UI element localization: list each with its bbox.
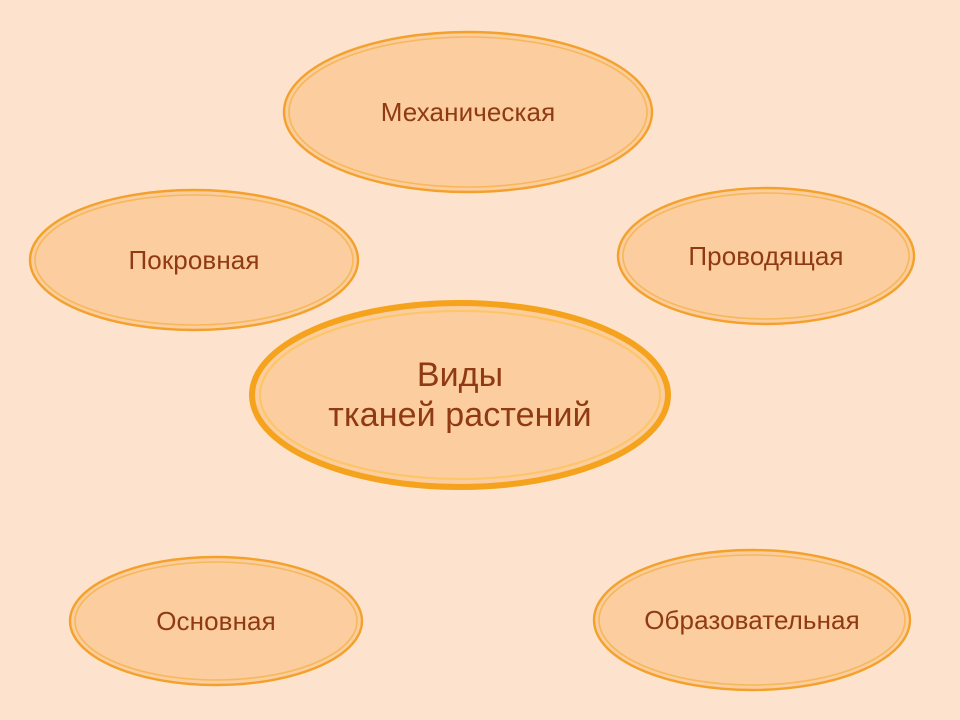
node-obrazovatelnaya[interactable] (594, 550, 910, 690)
node-provodyashchaya[interactable] (618, 188, 914, 324)
node-mehanicheskaya[interactable] (284, 32, 652, 192)
slide-canvas: Механическая Покровная Проводящая Основн… (0, 0, 960, 720)
node-osnovnaya[interactable] (70, 557, 362, 685)
node-center[interactable] (252, 303, 668, 487)
node-pokrovnaya[interactable] (30, 190, 358, 330)
